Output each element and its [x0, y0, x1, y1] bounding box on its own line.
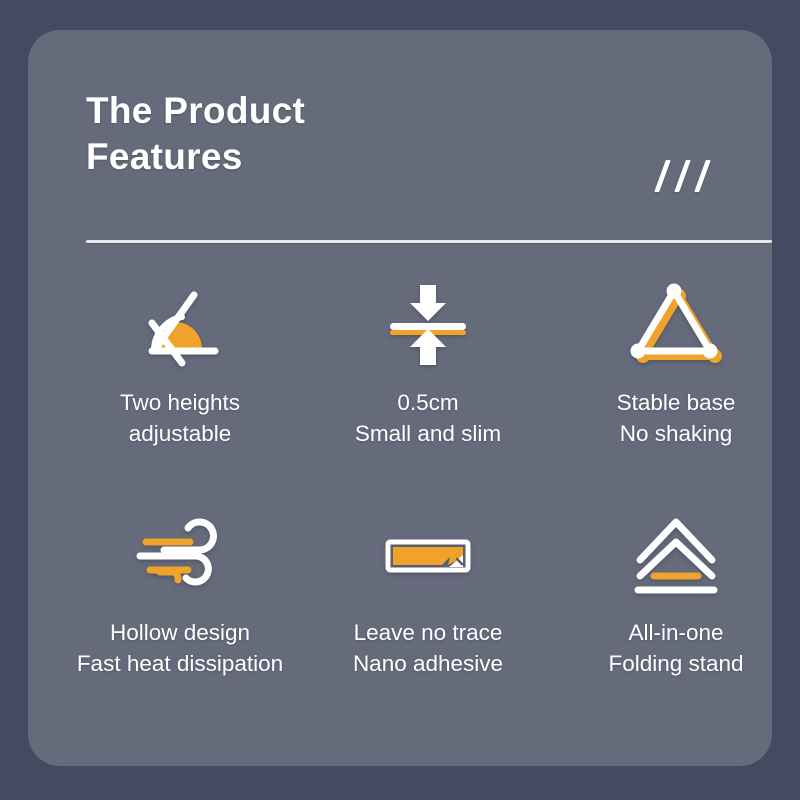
feature-label-line-1: 0.5cm [355, 387, 501, 418]
feature-label-line-1: Stable base [617, 387, 736, 418]
product-features-page: The Product Features [0, 0, 800, 800]
feature-label: Stable base No shaking [617, 387, 736, 449]
feature-label-line-2: Folding stand [608, 648, 743, 679]
feature-item-angle-adjust: Two heights adjustable [56, 275, 304, 449]
feature-item-folding-stand: All-in-one Folding stand [552, 505, 800, 679]
feature-label: All-in-one Folding stand [608, 617, 743, 679]
feature-label-line-1: Two heights [120, 387, 240, 418]
feature-label-line-2: Small and slim [355, 418, 501, 449]
feature-label: Leave no trace Nano adhesive [353, 617, 503, 679]
feature-label: Hollow design Fast heat dissipation [77, 617, 283, 679]
angle-adjust-icon [125, 275, 235, 375]
features-grid: Two heights adjustable 0.5cm Small and [56, 275, 800, 735]
feature-label-line-2: adjustable [120, 418, 240, 449]
title-line-1: The Product [86, 88, 646, 134]
feature-label-line-1: Hollow design [77, 617, 283, 648]
airflow-wind-icon [125, 505, 235, 605]
stable-triangle-icon [621, 275, 731, 375]
feature-item-hollow-design: Hollow design Fast heat dissipation [56, 505, 304, 679]
feature-label: Two heights adjustable [120, 387, 240, 449]
adhesive-tape-icon [373, 505, 483, 605]
slash-2 [674, 160, 691, 192]
feature-label-line-2: Nano adhesive [353, 648, 503, 679]
folding-chevron-icon [621, 505, 731, 605]
feature-item-no-trace: Leave no trace Nano adhesive [304, 505, 552, 679]
feature-label-line-1: All-in-one [608, 617, 743, 648]
slash-3 [694, 160, 711, 192]
page-title: The Product Features [86, 88, 646, 180]
slash-1 [654, 160, 671, 192]
header-divider [86, 240, 772, 243]
slashes-decoration-icon [658, 160, 722, 194]
feature-label-line-2: Fast heat dissipation [77, 648, 283, 679]
feature-label-line-2: No shaking [617, 418, 736, 449]
thickness-arrows-icon [373, 275, 483, 375]
feature-item-stable-base: Stable base No shaking [552, 275, 800, 449]
title-line-2: Features [86, 134, 646, 180]
feature-item-thickness: 0.5cm Small and slim [304, 275, 552, 449]
features-card: The Product Features [28, 30, 772, 766]
feature-label-line-1: Leave no trace [353, 617, 503, 648]
feature-label: 0.5cm Small and slim [355, 387, 501, 449]
